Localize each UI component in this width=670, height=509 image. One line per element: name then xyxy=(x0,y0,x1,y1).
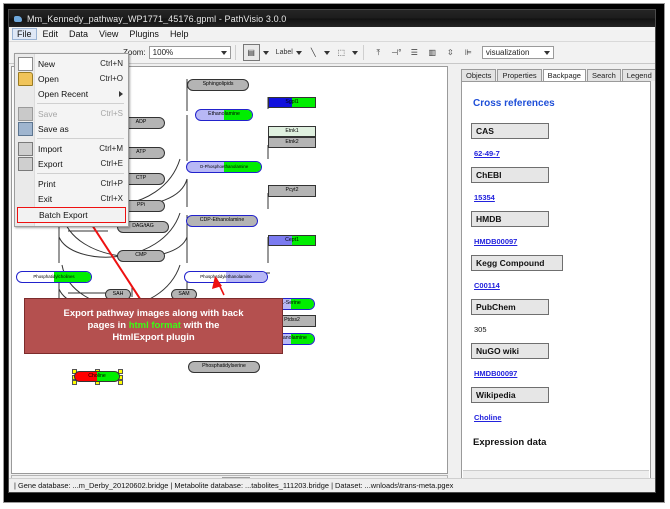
menu-item-label: New xyxy=(38,59,55,69)
save-as-icon xyxy=(18,122,33,136)
annotation-callout: Export pathway images along with back pa… xyxy=(24,298,283,354)
xref-value-pubchem: 305 xyxy=(474,325,487,334)
node-label: ATP xyxy=(136,150,146,155)
menu-help[interactable]: Help xyxy=(165,28,194,40)
window-title: Mm_Kennedy_pathway_WP1771_45176.gpml - P… xyxy=(27,14,286,24)
node-label: DAG/tAG xyxy=(132,224,154,229)
status-bar: | Gene database: ...m_Derby_20120602.bri… xyxy=(9,478,655,492)
shape-icon[interactable]: ⬚ xyxy=(334,45,349,60)
node-label: Etnk1 xyxy=(285,129,298,134)
gene-node-sgpl1[interactable]: Sgpl1 xyxy=(268,97,316,108)
menu-item-accel: Ctrl+N xyxy=(100,59,123,68)
menu-file[interactable]: File xyxy=(12,28,37,40)
menu-view[interactable]: View xyxy=(94,28,123,40)
cross-references-heading: Cross references xyxy=(473,98,641,109)
node-label: L-Serine xyxy=(281,301,301,306)
visualization-value: visualization xyxy=(486,48,530,57)
menu-item-label: Print xyxy=(38,179,55,189)
metabolite-node-ethanolamine-top[interactable]: Ethanolamine xyxy=(195,109,253,121)
node-label: Ptdss2 xyxy=(284,318,300,323)
side-panel: Objects Properties Backpage Search Legen… xyxy=(452,66,653,490)
chevron-down-icon[interactable] xyxy=(296,51,302,55)
node-label: Cept1 xyxy=(285,238,299,243)
menu-item-open-recent[interactable]: Open Recent xyxy=(15,86,128,101)
label-button[interactable]: Label xyxy=(276,49,293,56)
chevron-right-icon xyxy=(119,91,123,97)
menu-item-label: Save as xyxy=(38,124,69,134)
chevron-down-icon xyxy=(221,51,227,55)
tab-legend[interactable]: Legend xyxy=(622,69,656,81)
chevron-down-icon[interactable] xyxy=(263,51,269,55)
zoom-value: 100% xyxy=(153,48,173,57)
menu-item-label: Open xyxy=(38,74,59,84)
menu-item-save-as[interactable]: Save as xyxy=(15,121,128,136)
menu-item-label: Exit xyxy=(38,194,52,204)
node-label: CDP-Ethanolamine xyxy=(200,218,244,223)
menu-item-save: Save Ctrl+S xyxy=(15,106,128,121)
xref-value-kegg[interactable]: C00114 xyxy=(474,281,500,290)
callout-line-3: HtmlExport plugin xyxy=(112,332,194,343)
xref-db-cas: CAS xyxy=(471,123,549,139)
node-label: Phosphatidylethanolamine xyxy=(200,275,252,279)
menu-item-export[interactable]: Export Ctrl+E xyxy=(15,156,128,171)
node-label: PPi xyxy=(137,203,145,208)
node-label: Etnk2 xyxy=(285,140,298,145)
xref-db-nugo: NuGO wiki xyxy=(471,343,549,359)
toolbar-separator xyxy=(235,45,236,60)
stack-center-icon[interactable]: ☰ xyxy=(407,45,422,60)
xref-value-hmdb[interactable]: HMDB00097 xyxy=(474,237,517,246)
menu-separator xyxy=(37,173,124,174)
xref-value-cas[interactable]: 62-49-7 xyxy=(474,149,500,158)
menu-edit[interactable]: Edit xyxy=(38,28,64,40)
open-folder-icon xyxy=(18,72,33,86)
node-label: O-Phosphoethanolamine xyxy=(200,165,249,169)
menu-data[interactable]: Data xyxy=(64,28,93,40)
toolbar-separator xyxy=(363,45,364,60)
gene-node-etnk1[interactable]: Etnk1 xyxy=(268,126,316,137)
zoom-combo[interactable]: 100% xyxy=(149,46,231,59)
menu-item-print[interactable]: Print Ctrl+P xyxy=(15,176,128,191)
menu-plugins[interactable]: Plugins xyxy=(124,28,164,40)
menu-item-label: Open Recent xyxy=(38,89,88,99)
node-label: CTP xyxy=(136,176,146,181)
menu-item-accel: Ctrl+M xyxy=(99,144,123,153)
gene-node-cept1[interactable]: Cept1 xyxy=(268,235,316,246)
line-icon[interactable]: ╲ xyxy=(306,45,321,60)
node-label: Pcyt2 xyxy=(286,188,299,193)
menu-item-accel: Ctrl+E xyxy=(101,159,123,168)
xref-db-chebi: ChEBI xyxy=(471,167,549,183)
node-label: Phosphatidylserine xyxy=(202,364,246,369)
node-label: Sgpl1 xyxy=(285,100,298,105)
metabolite-node-phosphatidylserine[interactable]: Phosphatidylserine xyxy=(188,361,260,373)
title-bar: Mm_Kennedy_pathway_WP1771_45176.gpml - P… xyxy=(9,10,655,27)
metabolite-node-sphingolipids[interactable]: Sphingolipids xyxy=(187,79,249,91)
node-label: ADP xyxy=(136,120,147,125)
metabolite-node-o-phosphoethanolamine[interactable]: O-Phosphoethanolamine xyxy=(186,161,262,173)
pathvisio-icon xyxy=(13,14,23,24)
node-label: SAH xyxy=(113,292,124,297)
metabolite-node-cmp[interactable]: CMP xyxy=(117,250,165,262)
common-height-icon[interactable]: ⊫ xyxy=(461,45,476,60)
menu-item-label: Save xyxy=(38,109,57,119)
node-label: Choline xyxy=(88,374,106,379)
node-label: Ethanolamine xyxy=(208,112,240,117)
metabolite-node-phosphatidylcholines[interactable]: Phosphatidylcholines xyxy=(16,271,92,283)
menu-item-label: Batch Export xyxy=(39,210,88,220)
callout-line-2b: with the xyxy=(181,320,220,331)
save-icon xyxy=(18,107,33,121)
menu-item-label: Import xyxy=(38,144,62,154)
gene-node-pcyt2[interactable]: Pcyt2 xyxy=(268,185,316,197)
expression-data-heading: Expression data xyxy=(473,437,641,448)
menu-separator xyxy=(37,103,124,104)
gene-node-etnk2[interactable]: Etnk2 xyxy=(268,137,316,148)
menu-item-new[interactable]: New Ctrl+N xyxy=(15,56,128,71)
menu-item-open[interactable]: Open Ctrl+O xyxy=(15,71,128,86)
xref-value-wikipedia[interactable]: Choline xyxy=(474,413,502,422)
menu-bar: File Edit Data View Plugins Help xyxy=(9,27,655,42)
tab-search[interactable]: Search xyxy=(587,69,621,81)
xref-db-hmdb: HMDB xyxy=(471,211,549,227)
screenshot-root: Mm_Kennedy_pathway_WP1771_45176.gpml - P… xyxy=(0,0,670,509)
node-label: Phosphatidylcholines xyxy=(33,275,74,279)
node-label: SAM xyxy=(178,292,189,297)
align-top-icon[interactable]: ⤒ xyxy=(371,45,386,60)
callout-line-2a: pages in xyxy=(88,320,129,331)
backpage-content: Cross references CAS 62-49-7 ChEBI 15354… xyxy=(461,81,651,481)
chevron-down-icon[interactable] xyxy=(352,51,358,55)
tab-objects[interactable]: Objects xyxy=(461,69,496,81)
menu-item-accel: Ctrl+P xyxy=(101,179,123,188)
xref-value-chebi[interactable]: 15354 xyxy=(474,193,495,202)
import-icon xyxy=(18,142,33,156)
menu-item-batch-export[interactable]: Batch Export xyxy=(17,207,126,223)
xref-db-wikipedia: Wikipedia xyxy=(471,387,549,403)
status-text: | Gene database: ...m_Derby_20120602.bri… xyxy=(14,481,453,490)
new-document-icon xyxy=(18,57,33,71)
metabolite-node-choline-bottom[interactable]: Choline xyxy=(74,371,120,382)
xref-db-pubchem: PubChem xyxy=(471,299,549,315)
chevron-down-icon[interactable] xyxy=(324,51,330,55)
side-panel-tabs: Objects Properties Backpage Search Legen… xyxy=(452,66,653,81)
xref-value-nugo[interactable]: HMDB00097 xyxy=(474,369,517,378)
callout-highlight: html format xyxy=(129,320,181,331)
menu-item-accel: Ctrl+O xyxy=(100,74,123,83)
file-menu-popup[interactable]: New Ctrl+N Open Ctrl+O Open Recent Save … xyxy=(14,53,129,227)
menu-separator xyxy=(37,138,124,139)
visualization-combo[interactable]: visualization xyxy=(482,46,554,59)
callout-line-1: Export pathway images along with back xyxy=(63,308,243,319)
menu-item-label: Export xyxy=(38,159,63,169)
node-label: Sphingolipids xyxy=(203,82,234,87)
stack-vertical-icon[interactable]: ▥ xyxy=(425,45,440,60)
metabolite-node-phosphatidylethanolamine[interactable]: Phosphatidylethanolamine xyxy=(184,271,268,283)
datanode-icon[interactable]: ▤ xyxy=(243,44,260,61)
export-icon xyxy=(18,157,33,171)
menu-item-accel: Ctrl+S xyxy=(101,109,123,118)
xref-db-kegg: Kegg Compound xyxy=(471,255,563,271)
metabolite-node-cdp-ethanolamine[interactable]: CDP-Ethanolamine xyxy=(186,215,258,227)
tab-properties[interactable]: Properties xyxy=(497,69,541,81)
pathvisio-window: Mm_Kennedy_pathway_WP1771_45176.gpml - P… xyxy=(8,9,656,493)
menu-item-accel: Ctrl+X xyxy=(101,194,123,203)
chevron-down-icon xyxy=(544,51,550,55)
align-left-icon[interactable]: ⊣° xyxy=(389,45,404,60)
common-width-icon[interactable]: ⇳ xyxy=(443,45,458,60)
menu-item-import[interactable]: Import Ctrl+M xyxy=(15,141,128,156)
menu-item-exit[interactable]: Exit Ctrl+X xyxy=(15,191,128,206)
node-label: CMP xyxy=(135,253,147,258)
